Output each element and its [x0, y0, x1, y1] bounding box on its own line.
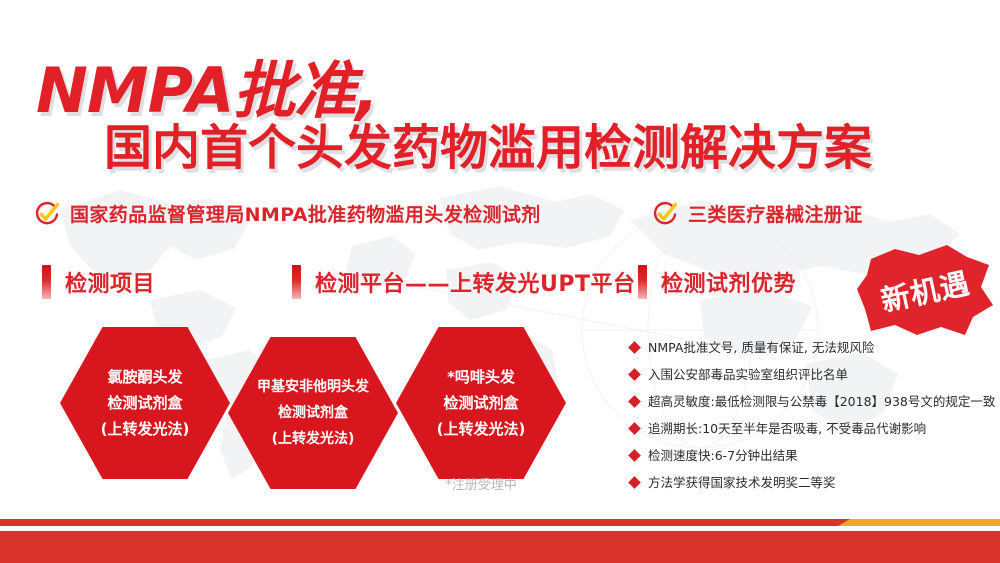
hexagon-card-ketamine[interactable]: 氯胺酮头发 检测试剂盒 (上转发光法): [60, 327, 230, 479]
section-header-reagent-benefits: 检测试剂优势: [638, 265, 796, 299]
list-item: 入围公安部毒品实验室组织评比名单: [630, 363, 1000, 390]
advantage-text: 超高灵敏度:最低检测限与公禁毒【2018】938号文的规定一致: [648, 390, 995, 413]
poster-canvas: NMPA批准, 国内首个头发药物滥用检测解决方案 国家药品监督管理局NMPA批准…: [0, 0, 1000, 563]
advantage-text: 检测速度快:6-7分钟出结果: [648, 444, 798, 467]
certification-label: 国家药品监督管理局NMPA批准药物滥用头发检测试剂: [70, 200, 541, 227]
hexagon-line: (上转发光法): [437, 416, 526, 442]
section-header-test-items: 检测项目: [42, 265, 155, 299]
section-accent-bar-icon: [42, 265, 51, 299]
hexagon-card-morphine[interactable]: *吗啡头发 检测试剂盒 (上转发光法): [396, 327, 566, 479]
section-header-test-platform: 检测平台——上转发光UPT平台: [292, 265, 636, 299]
hexagon-line: 甲基安非他明头发: [257, 374, 369, 400]
stripe-orange-segment: [838, 519, 1000, 526]
advantage-text: 追溯期长:10天至半年是否吸毒, 不受毒品代谢影响: [648, 417, 926, 440]
certification-row-1: 国家药品监督管理局NMPA批准药物滥用头发检测试剂: [34, 200, 541, 227]
footer-bar: [0, 531, 1000, 563]
diamond-bullet-icon: [628, 341, 641, 354]
headline-line-2: 国内首个头发药物滥用检测解决方案: [104, 124, 872, 172]
section-accent-bar-icon: [292, 265, 301, 299]
hexagon-line: 氯胺酮头发: [107, 364, 182, 390]
check-circle-icon: [652, 201, 678, 227]
certification-label: 三类医疗器械注册证: [688, 200, 863, 227]
list-item: 检测速度快:6-7分钟出结果: [630, 444, 1000, 471]
diamond-bullet-icon: [628, 449, 641, 462]
hexagon-line: 检测试剂盒: [443, 390, 518, 416]
section-accent-bar-icon: [638, 265, 647, 299]
hexagon-line: (上转发光法): [272, 426, 355, 452]
section-title: 检测项目: [65, 266, 155, 298]
section-title: 检测平台——上转发光UPT平台: [315, 266, 636, 298]
advantages-list: NMPA批准文号, 质量有保证, 无法规风险 入围公安部毒品实验室组织评比名单 …: [630, 336, 1000, 498]
check-circle-icon: [34, 201, 60, 227]
diamond-bullet-icon: [628, 476, 641, 489]
list-item: 超高灵敏度:最低检测限与公禁毒【2018】938号文的规定一致: [630, 390, 1000, 417]
hexagon-card-methamphetamine[interactable]: 甲基安非他明头发 检测试剂盒 (上转发光法): [228, 337, 398, 489]
hexagon-footnote: *注册受理中: [396, 474, 566, 493]
list-item: 追溯期长:10天至半年是否吸毒, 不受毒品代谢影响: [630, 417, 1000, 444]
stripe-red-segment: [0, 519, 856, 526]
diamond-bullet-icon: [628, 368, 641, 381]
bottom-stripe: [0, 519, 1000, 526]
advantage-text: 入围公安部毒品实验室组织评比名单: [648, 363, 848, 386]
diamond-bullet-icon: [628, 422, 641, 435]
section-title: 检测试剂优势: [661, 266, 796, 298]
hexagon-line: 检测试剂盒: [278, 400, 348, 426]
certification-row-2: 三类医疗器械注册证: [652, 200, 863, 227]
advantage-text: NMPA批准文号, 质量有保证, 无法规风险: [648, 336, 874, 359]
diamond-bullet-icon: [628, 395, 641, 408]
new-opportunity-badge: 新机遇: [855, 243, 995, 337]
headline-line-1: NMPA批准,: [36, 60, 378, 122]
hexagon-line: *吗啡头发: [447, 364, 515, 390]
list-item: 方法学获得国家技术发明奖二等奖: [630, 471, 1000, 498]
list-item: NMPA批准文号, 质量有保证, 无法规风险: [630, 336, 1000, 363]
headline-block: NMPA批准, 国内首个头发药物滥用检测解决方案: [0, 52, 1000, 192]
hexagon-line: 检测试剂盒: [107, 390, 182, 416]
advantage-text: 方法学获得国家技术发明奖二等奖: [648, 471, 836, 494]
hexagon-line: (上转发光法): [101, 416, 190, 442]
